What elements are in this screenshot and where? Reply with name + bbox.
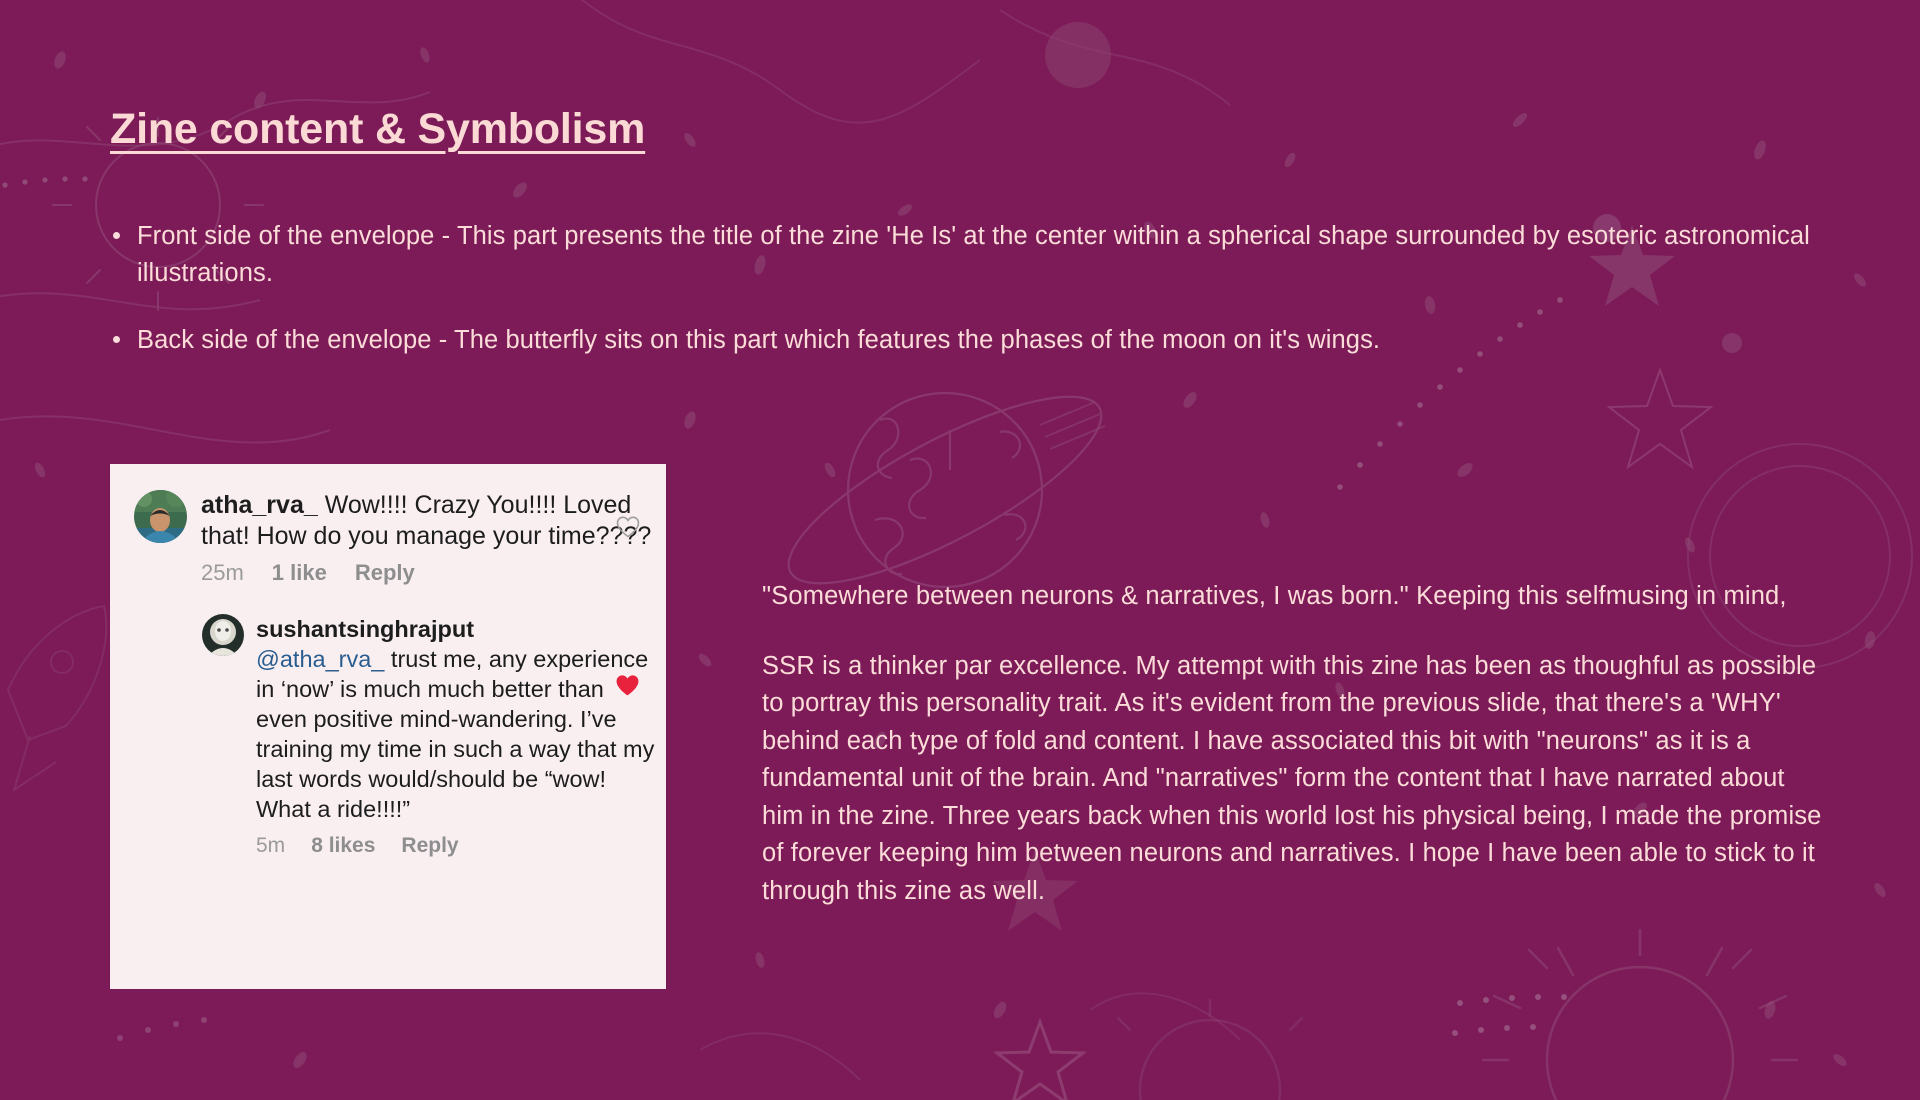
comment-meta: 5m 8 likes Reply [256,834,656,858]
comment-text: atha_rva_ Wow!!!! Crazy You!!!! Loved th… [201,490,656,552]
comment-row: sushantsinghrajput @atha_rva_ trust me, … [110,586,666,858]
comment-row: atha_rva_ Wow!!!! Crazy You!!!! Loved th… [110,464,666,586]
rocket-icon [8,606,106,790]
comment-likes-count[interactable]: 1 like [272,560,327,586]
comment-body: atha_rva_ Wow!!!! Crazy You!!!! Loved th… [201,490,666,586]
comment-body: sushantsinghrajput @atha_rva_ trust me, … [256,614,666,858]
bullet-dot-icon [113,232,120,239]
slide-root: Zine content & Symbolism Front side of t… [0,0,1920,1100]
list-item: Front side of the envelope - This part p… [110,218,1810,292]
comment-message: trust me, any experience in ‘now’ is muc… [256,646,654,822]
page-title: Zine content & Symbolism [110,105,645,154]
right-text-column: "Somewhere between neurons & narratives,… [762,578,1822,910]
sun-burst-icon [1118,1000,1302,1100]
comment-timestamp: 5m [256,834,285,858]
comment-username[interactable]: sushantsinghrajput [256,616,474,642]
bullet-text: Front side of the envelope - This part p… [137,222,1810,287]
comment-reply-button[interactable]: Reply [355,560,415,586]
bullet-list: Front side of the envelope - This part p… [110,218,1810,359]
comment-meta: 25m 1 like Reply [201,560,656,586]
heart-filled-icon[interactable] [615,674,640,702]
bullet-dot-icon [113,336,120,343]
comment-mention-link[interactable]: @atha_rva_ [256,646,384,672]
bullet-text: Back side of the envelope - The butterfl… [137,326,1380,354]
avatar [202,614,244,656]
comment-username[interactable]: atha_rva_ [201,491,318,519]
comment-reply-button[interactable]: Reply [401,834,458,858]
quote-paragraph: "Somewhere between neurons & narratives,… [762,578,1822,616]
comment-timestamp: 25m [201,560,244,586]
comment-text: sushantsinghrajput @atha_rva_ trust me, … [256,614,656,824]
heart-outline-icon[interactable] [616,516,640,543]
star-icon [997,1022,1083,1100]
comment-likes-count[interactable]: 8 likes [311,834,375,858]
list-item: Back side of the envelope - The butterfl… [110,322,1810,359]
star-icon [1609,370,1711,467]
moon-circle-icon [1045,22,1111,88]
avatar [134,490,187,543]
instagram-comments-screenshot: atha_rva_ Wow!!!! Crazy You!!!! Loved th… [110,464,666,989]
dotted-orbit-icon [2,176,87,187]
sun-burst-icon [1483,930,1797,1100]
body-paragraph: SSR is a thinker par excellence. My atte… [762,648,1822,911]
